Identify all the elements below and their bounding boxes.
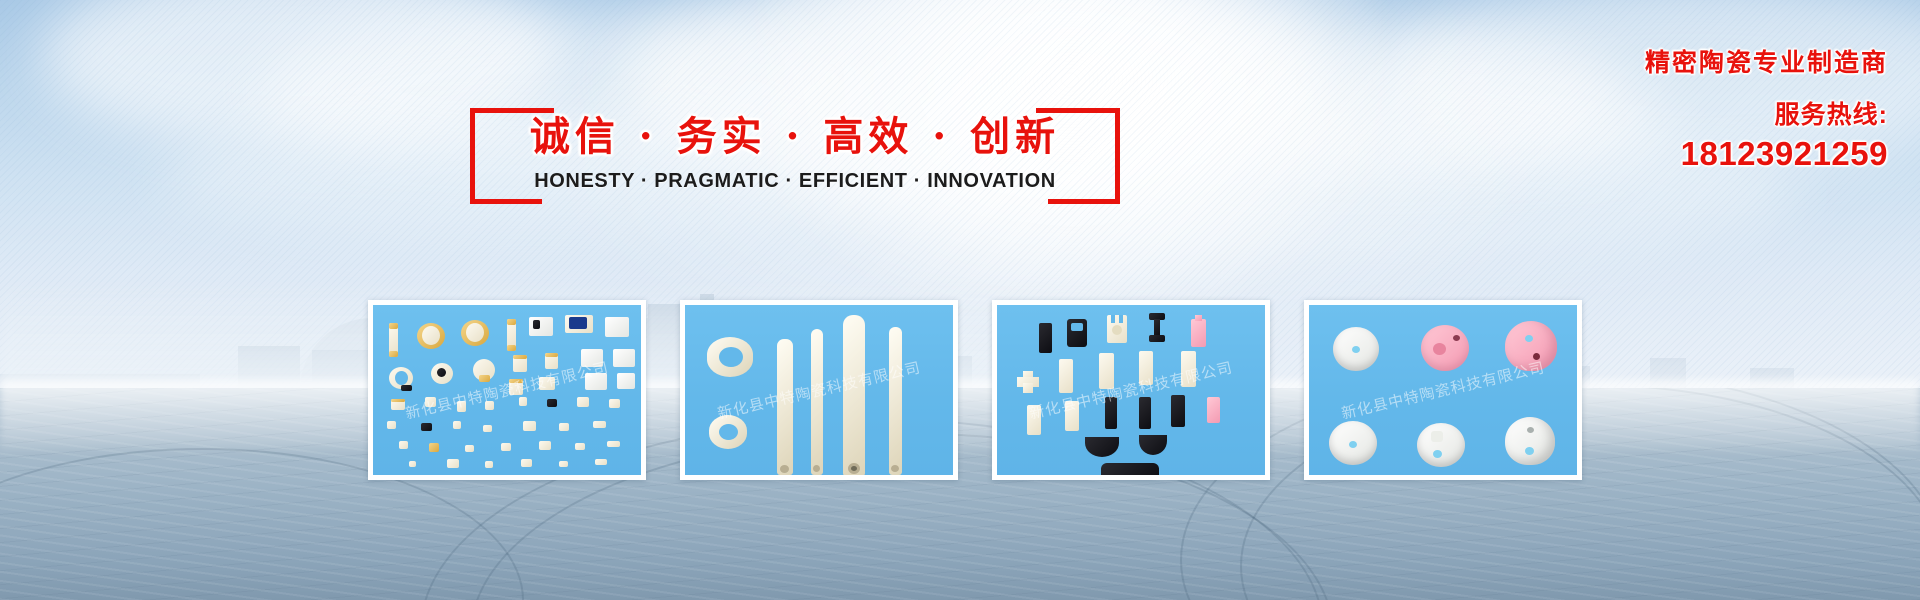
product-panel-ceramic-discs[interactable]: 新化县中特陶瓷科技有限公司 bbox=[1304, 300, 1582, 480]
panel-reflection bbox=[680, 480, 958, 580]
hotline-label: 服务热线: bbox=[1458, 95, 1888, 131]
panel-image: 新化县中特陶瓷科技有限公司 bbox=[685, 305, 953, 475]
bracket-left-bottom bbox=[470, 199, 542, 204]
bracket-right-bottom bbox=[1048, 199, 1120, 204]
product-panel-row: 新化县中特陶瓷科技有限公司 新化县中特陶瓷科技有限公司 bbox=[368, 300, 1588, 480]
contact-block: 精密陶瓷专业制造商 服务热线: 18123921259 bbox=[1458, 48, 1888, 173]
panel-reflection bbox=[1304, 480, 1582, 580]
slogan-chinese: 诚信 · 务实 · 高效 · 创新 bbox=[470, 104, 1120, 162]
company-tagline: 精密陶瓷专业制造商 bbox=[1458, 48, 1888, 79]
panel-image: 新化县中特陶瓷科技有限公司 bbox=[1309, 305, 1577, 475]
panel-reflection bbox=[992, 480, 1270, 580]
product-panel-smd-components[interactable]: 新化县中特陶瓷科技有限公司 bbox=[368, 300, 646, 480]
hotline-phone-number[interactable]: 18123921259 bbox=[1458, 135, 1888, 173]
panel-image: 新化县中特陶瓷科技有限公司 bbox=[373, 305, 641, 475]
slogan-block: 诚信 · 务实 · 高效 · 创新 HONESTY · PRAGMATIC · … bbox=[470, 108, 1120, 204]
product-panel-ceramic-tubes[interactable]: 新化县中特陶瓷科技有限公司 bbox=[680, 300, 958, 480]
slogan-english: HONESTY · PRAGMATIC · EFFICIENT · INNOVA… bbox=[470, 170, 1120, 193]
panel-image: 新化县中特陶瓷科技有限公司 bbox=[997, 305, 1265, 475]
hero-banner: 诚信 · 务实 · 高效 · 创新 HONESTY · PRAGMATIC · … bbox=[0, 0, 1920, 600]
panel-reflection bbox=[368, 480, 646, 580]
product-panel-ceramic-blocks[interactable]: 新化县中特陶瓷科技有限公司 bbox=[992, 300, 1270, 480]
